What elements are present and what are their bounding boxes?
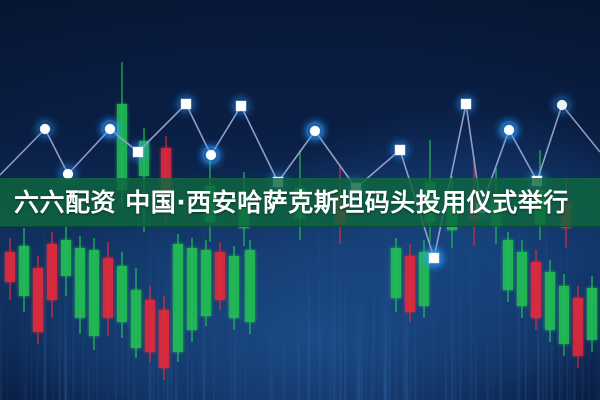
- band-bottom-rule: [0, 226, 600, 227]
- headline-band: 六六配资 中国·西安哈萨克斯坦码头投用仪式举行: [0, 178, 600, 227]
- stock-banner-image: 六六配资 中国·西安哈萨克斯坦码头投用仪式举行: [0, 0, 600, 400]
- headline-text: 六六配资 中国·西安哈萨克斯坦码头投用仪式举行: [0, 190, 569, 215]
